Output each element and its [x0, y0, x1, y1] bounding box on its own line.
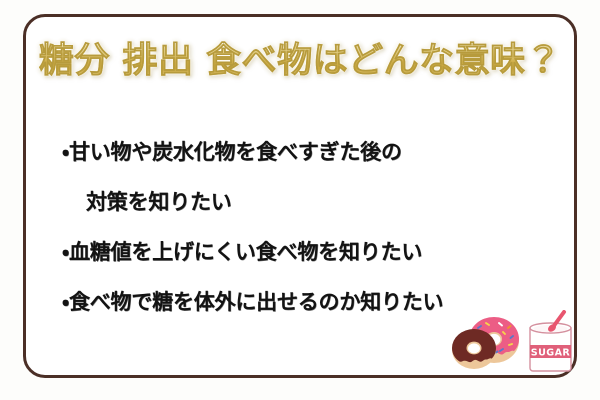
page-title: 糖分 排出 食べ物はどんな意味？ — [39, 44, 561, 79]
list-item-continuation: 対策を知りたい — [62, 177, 532, 227]
list-item: ・甘い物や炭水化物を食べすぎた後の — [62, 127, 532, 177]
donuts-and-sugar-jar-illustration: SUGAR — [452, 310, 577, 380]
chocolate-donut-icon — [452, 329, 496, 369]
title-container: 糖分 排出 食べ物はどんな意味？ — [23, 32, 577, 90]
sugar-jar-label: SUGAR — [531, 347, 571, 358]
sugar-jar-icon: SUGAR — [530, 312, 571, 371]
slide-canvas: 糖分 排出 食べ物はどんな意味？ ・甘い物や炭水化物を食べすぎた後の 対策を知り… — [0, 0, 600, 400]
list-item: ・血糖値を上げにくい食べ物を知りたい — [62, 227, 532, 277]
bullet-list: ・甘い物や炭水化物を食べすぎた後の 対策を知りたい ・血糖値を上げにくい食べ物を… — [62, 127, 532, 327]
